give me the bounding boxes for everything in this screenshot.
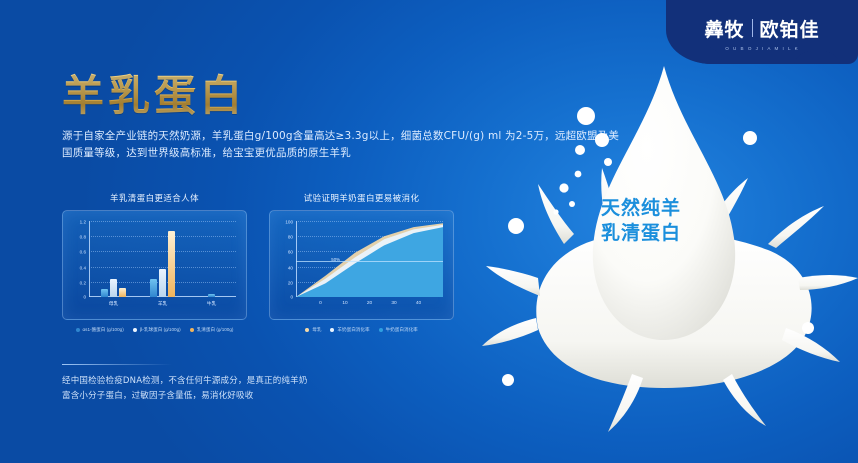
chart-title: 羊乳清蛋白更适合人体 — [62, 192, 247, 204]
y-axis-tick: 0 — [83, 295, 86, 300]
footnote-line-2: 富含小分子蛋白，过敏因子含量低，易消化好吸收 — [62, 389, 482, 404]
charts-row: 羊乳清蛋白更适合人体 1.20.80.60.40.20母乳羊乳牛乳 αs1-酪蛋… — [62, 192, 454, 333]
chart-canvas: 1.20.80.60.40.20母乳羊乳牛乳 — [62, 210, 247, 320]
chart-title: 试验证明羊奶蛋白更易被消化 — [269, 192, 454, 204]
poster-canvas: 羴牧 欧铂佳 O U B O J I A M I L K 羊乳蛋白 源于自家全产… — [0, 0, 858, 463]
chart-legend: αs1-酪蛋白 (g/100g)β-乳球蛋白 (g/100g)乳清蛋白 (g/1… — [62, 327, 247, 333]
legend-item: 羊奶蛋白消化率 — [330, 327, 369, 333]
legend-label: 母乳 — [312, 327, 321, 333]
footnote: 经中国检验检疫DNA检测，不含任何牛源成分，是真正的纯羊奶 富含小分子蛋白，过敏… — [62, 374, 482, 404]
legend-swatch — [330, 328, 334, 332]
chart-digestibility: 试验证明羊奶蛋白更易被消化 10080604020001020304050% 母… — [269, 192, 454, 333]
bar — [150, 279, 157, 297]
bar-group: 羊乳 — [138, 221, 187, 297]
bar — [110, 279, 117, 297]
legend-item: αs1-酪蛋白 (g/100g) — [76, 327, 124, 333]
y-axis-tick: 0.4 — [80, 265, 86, 270]
reference-line — [296, 261, 443, 262]
x-axis-tick: 羊乳 — [158, 300, 168, 307]
legend-item: 乳清蛋白 (g/100g) — [190, 327, 234, 333]
bar — [208, 294, 215, 297]
y-axis-tick: 60 — [288, 250, 293, 255]
x-axis-tick: 20 — [367, 301, 372, 306]
legend-item: β-乳球蛋白 (g/100g) — [133, 327, 181, 333]
legend-swatch — [133, 328, 137, 332]
bar — [101, 289, 108, 297]
milk-splash-illustration: 天然纯羊 乳清蛋白 — [468, 28, 858, 448]
bar-group: 牛乳 — [187, 221, 236, 297]
area-series-container — [296, 221, 443, 297]
legend-swatch — [76, 328, 80, 332]
bar — [119, 288, 126, 298]
footnote-line-1: 经中国检验检疫DNA检测，不含任何牛源成分，是真正的纯羊奶 — [62, 374, 482, 389]
y-axis-tick: 100 — [285, 220, 293, 225]
bar-series-container: 母乳羊乳牛乳 — [89, 221, 236, 297]
hero-callout-line-1: 天然纯羊 — [601, 196, 681, 221]
x-axis-tick: 40 — [416, 301, 421, 306]
hero-callout-line-2: 乳清蛋白 — [601, 221, 681, 246]
y-axis-tick: 40 — [288, 265, 293, 270]
legend-item: 牛奶蛋白消化率 — [379, 327, 418, 333]
legend-swatch — [190, 328, 194, 332]
x-axis-tick: 30 — [391, 301, 396, 306]
legend-label: β-乳球蛋白 (g/100g) — [140, 327, 181, 333]
x-axis-tick: 牛乳 — [207, 300, 217, 307]
y-axis-tick: 1.2 — [80, 220, 86, 225]
legend-item: 母乳 — [305, 327, 321, 333]
x-axis-tick: 0 — [319, 301, 322, 306]
page-title: 羊乳蛋白 — [62, 62, 246, 123]
legend-label: 牛奶蛋白消化率 — [386, 327, 418, 333]
y-axis-tick: 0 — [290, 295, 293, 300]
chart-protein-comparison: 羊乳清蛋白更适合人体 1.20.80.60.40.20母乳羊乳牛乳 αs1-酪蛋… — [62, 192, 247, 333]
chart-canvas: 10080604020001020304050% — [269, 210, 454, 320]
bar-plot-area: 1.20.80.60.40.20母乳羊乳牛乳 — [89, 221, 236, 297]
y-axis-tick: 20 — [288, 280, 293, 285]
y-axis-tick: 0.8 — [80, 235, 86, 240]
chart-legend: 母乳羊奶蛋白消化率牛奶蛋白消化率 — [269, 327, 454, 333]
legend-label: 羊奶蛋白消化率 — [337, 327, 369, 333]
legend-swatch — [379, 328, 383, 332]
legend-label: αs1-酪蛋白 (g/100g) — [83, 327, 124, 333]
bar — [159, 269, 166, 298]
y-axis-tick: 80 — [288, 235, 293, 240]
y-axis-tick: 0.2 — [80, 280, 86, 285]
y-axis-tick: 0.6 — [80, 250, 86, 255]
bar — [168, 231, 175, 298]
x-axis-tick: 10 — [342, 301, 347, 306]
legend-label: 乳清蛋白 (g/100g) — [197, 327, 234, 333]
hero-callout: 天然纯羊 乳清蛋白 — [601, 196, 681, 246]
legend-swatch — [305, 328, 309, 332]
bar-group: 母乳 — [89, 221, 138, 297]
area-plot-area: 10080604020001020304050% — [296, 221, 443, 297]
footnote-divider — [62, 364, 172, 365]
x-axis-tick: 母乳 — [109, 300, 119, 307]
